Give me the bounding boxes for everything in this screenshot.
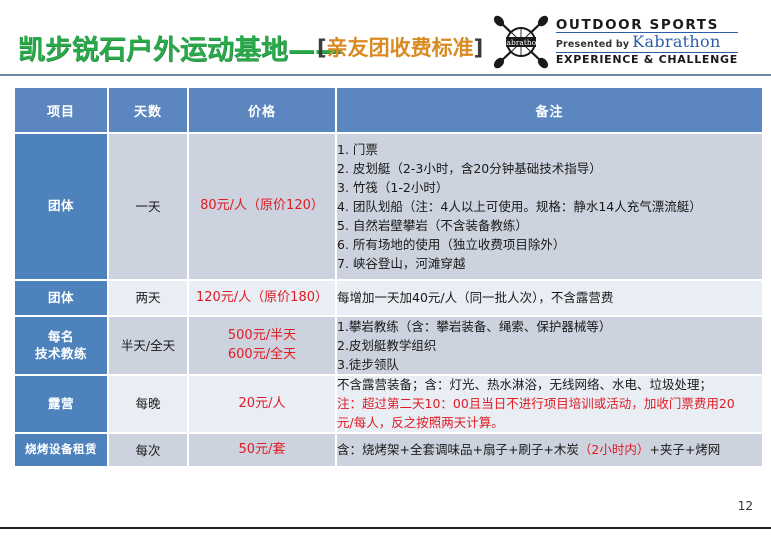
cell-remark: 1.攀岩教练（含：攀岩装备、绳索、保护器械等） 2.皮划艇教学组织 3.徒步领队 [337, 317, 762, 374]
column-header-price: 价格 [189, 88, 335, 132]
page-number: 12 [738, 499, 753, 513]
cell-remark: 含：烧烤架+全套调味品+扇子+刷子+木炭（2小时内）+夹子+烤网 [337, 434, 762, 466]
cell-remark: 不含露营装备；含：灯光、热水淋浴，无线网络、水电、垃圾处理； 注：超过第二天10… [337, 376, 762, 432]
column-header-days: 天数 [109, 88, 187, 132]
cell-item-line1: 每名 [15, 329, 107, 346]
cell-price: 20元/人 [189, 376, 335, 432]
table-row: 烧烤设备租赁 每次 50元/套 含：烧烤架+全套调味品+扇子+刷子+木炭（2小时… [15, 434, 762, 466]
remark-segment-3: +夹子+烤网 [649, 442, 720, 457]
column-header-item: 项目 [15, 88, 107, 132]
remark-list-item: 6. 所有场地的使用（独立收费项目除外） [337, 235, 762, 254]
subtitle-bracket-open: [ [317, 36, 327, 60]
logo-tagline-bottom: EXPERIENCE & CHALLENGE [556, 53, 738, 66]
logo-presented-by: Presented by [556, 40, 629, 50]
cell-item: 每名 技术教练 [15, 317, 107, 374]
cell-price: 120元/人（原价180） [189, 281, 335, 315]
page-subtitle: [亲友团收费标准] [317, 32, 483, 62]
subtitle-text: 亲友团收费标准 [327, 36, 474, 60]
brand-logo: Kabrathon OUTDOOR SPORTS Presented by Ka… [490, 14, 738, 70]
table-header-row: 项目 天数 价格 备注 [15, 88, 762, 132]
column-header-remark: 备注 [337, 88, 762, 132]
cell-days: 每晚 [109, 376, 187, 432]
remark-segment-1: 含：烧烤架+全套调味品+扇子+刷子+木炭 [337, 442, 579, 457]
logo-brand-row: Presented by Kabrathon [556, 32, 738, 53]
remark-list-item: 3. 竹筏（1-2小时） [337, 178, 762, 197]
cell-remark: 1. 门票 2. 皮划艇（2-3小时，含20分钟基础技术指导） 3. 竹筏（1-… [337, 134, 762, 279]
table-row: 露营 每晚 20元/人 不含露营装备；含：灯光、热水淋浴，无线网络、水电、垃圾处… [15, 376, 762, 432]
cell-price: 50元/套 [189, 434, 335, 466]
cell-item-line2: 技术教练 [15, 346, 107, 363]
header-divider [0, 74, 771, 76]
pricing-table-container: 项目 天数 价格 备注 团体 一天 80元/人（原价120） 1. 门票 2. … [13, 86, 758, 468]
remark-line-black: 不含露营装备；含：灯光、热水淋浴，无线网络、水电、垃圾处理； [337, 376, 762, 395]
cell-price-line2: 600元/全天 [189, 346, 335, 365]
crossed-paddles-icon: Kabrathon [490, 15, 552, 69]
cell-item: 团体 [15, 281, 107, 315]
remark-list-item: 3.徒步领队 [337, 355, 762, 374]
table-header: 项目 天数 价格 备注 [15, 88, 762, 132]
svg-text:Kabrathon: Kabrathon [501, 38, 541, 47]
cell-days: 两天 [109, 281, 187, 315]
table-body: 团体 一天 80元/人（原价120） 1. 门票 2. 皮划艇（2-3小时，含2… [15, 134, 762, 466]
remark-list-item: 7. 峡谷登山，河滩穿越 [337, 254, 762, 273]
remark-list-item: 4. 团队划船（注：4人以上可使用。规格：静水14人充气漂流艇） [337, 197, 762, 216]
pricing-table: 项目 天数 价格 备注 团体 一天 80元/人（原价120） 1. 门票 2. … [13, 86, 764, 468]
slide: 凯步锐石户外运动基地—— [亲友团收费标准] [0, 0, 771, 535]
cell-days: 每次 [109, 434, 187, 466]
cell-days: 半天/全天 [109, 317, 187, 374]
cell-item: 烧烤设备租赁 [15, 434, 107, 466]
remark-list: 1.攀岩教练（含：攀岩装备、绳索、保护器械等） 2.皮划艇教学组织 3.徒步领队 [337, 317, 762, 374]
remark-paragraph: 不含露营装备；含：灯光、热水淋浴，无线网络、水电、垃圾处理； 注：超过第二天10… [337, 376, 762, 432]
remark-line-red-1: 注：超过第二天10：00且当日不进行项目培训或活动，加收门票费用20 [337, 395, 762, 414]
remark-list-item: 5. 自然岩壁攀岩（不含装备教练） [337, 216, 762, 235]
remark-list-item: 1.攀岩教练（含：攀岩装备、绳索、保护器械等） [337, 317, 762, 336]
table-row: 每名 技术教练 半天/全天 500元/半天 600元/全天 1.攀岩教练（含：攀… [15, 317, 762, 374]
remark-line-red-2: 元/每人，反之按照两天计算。 [337, 414, 762, 433]
page-title: 凯步锐石户外运动基地—— [18, 28, 342, 67]
cell-remark: 每增加一天加40元/人（同一批人次），不含露营费 [337, 281, 762, 315]
table-row: 团体 一天 80元/人（原价120） 1. 门票 2. 皮划艇（2-3小时，含2… [15, 134, 762, 279]
cell-price: 80元/人（原价120） [189, 134, 335, 279]
remark-list-item: 2.皮划艇教学组织 [337, 336, 762, 355]
logo-text-block: OUTDOOR SPORTS Presented by Kabrathon EX… [556, 18, 738, 66]
logo-tagline-top: OUTDOOR SPORTS [556, 18, 738, 32]
remark-list: 1. 门票 2. 皮划艇（2-3小时，含20分钟基础技术指导） 3. 竹筏（1-… [337, 140, 762, 273]
logo-brand-name: Kabrathon [632, 34, 720, 51]
cell-item: 团体 [15, 134, 107, 279]
subtitle-bracket-close: ] [474, 36, 484, 60]
remark-list-item: 2. 皮划艇（2-3小时，含20分钟基础技术指导） [337, 159, 762, 178]
slide-header: 凯步锐石户外运动基地—— [亲友团收费标准] [0, 0, 771, 78]
remark-list-item: 1. 门票 [337, 140, 762, 159]
cell-days: 一天 [109, 134, 187, 279]
cell-price-line1: 500元/半天 [189, 327, 335, 346]
cell-price: 500元/半天 600元/全天 [189, 317, 335, 374]
cell-item: 露营 [15, 376, 107, 432]
footer-divider [0, 527, 771, 529]
table-row: 团体 两天 120元/人（原价180） 每增加一天加40元/人（同一批人次），不… [15, 281, 762, 315]
remark-segment-red: （2小时内） [579, 442, 649, 457]
